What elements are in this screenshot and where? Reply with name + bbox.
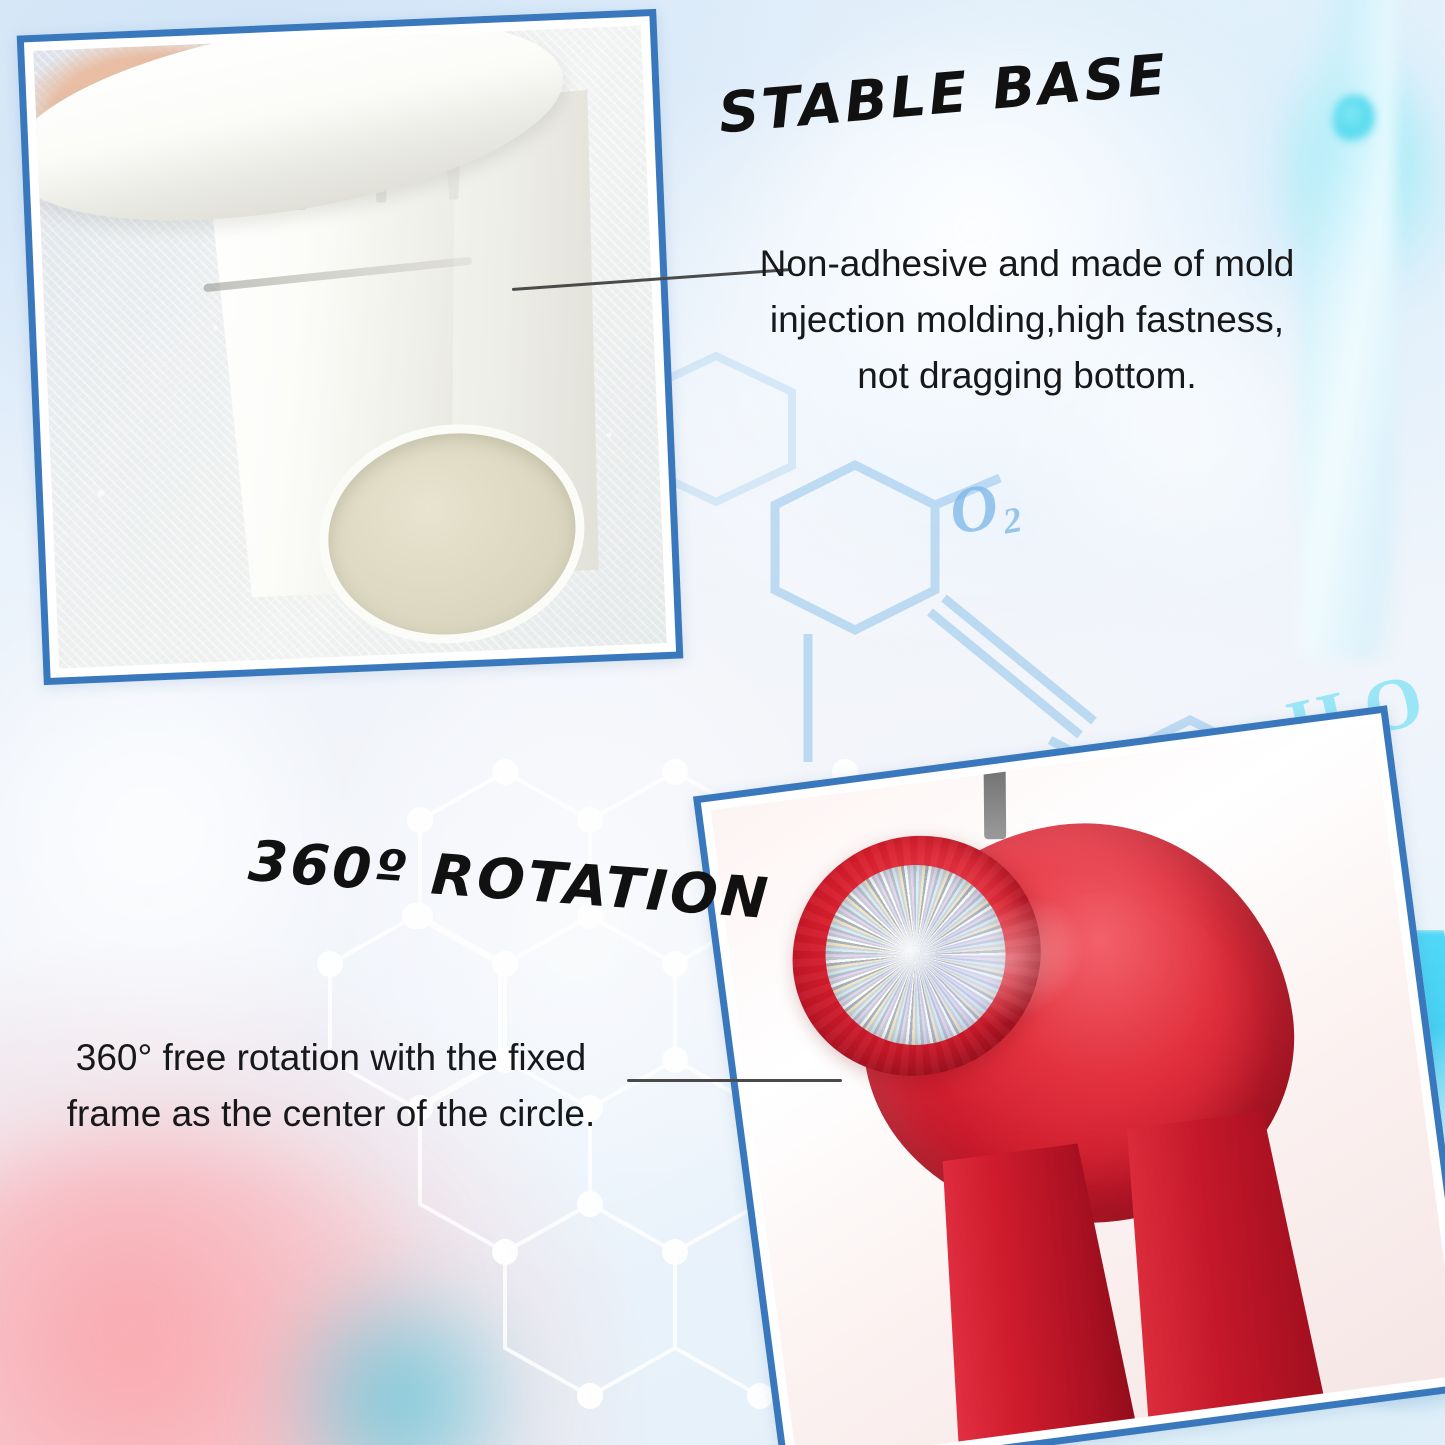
photo-frame-rotation (693, 705, 1445, 1445)
body-text-rotation: 360° free rotation with the fixed frame … (42, 1030, 620, 1142)
leader-line-rotation (627, 1079, 842, 1082)
photo-stable-base (33, 26, 666, 669)
metal-stem (984, 759, 1007, 839)
photo-frame-stable-base (17, 9, 684, 685)
cyan-droplet (1333, 95, 1375, 145)
infographic-canvas: O2 —H2O STABLE BASE Non-adhesive and mad… (0, 0, 1445, 1445)
chem-label-o2: O2 (944, 465, 1024, 552)
body-text-stable-base: Non-adhesive and made of mold injection … (742, 236, 1312, 405)
photo-rotation (711, 723, 1445, 1445)
